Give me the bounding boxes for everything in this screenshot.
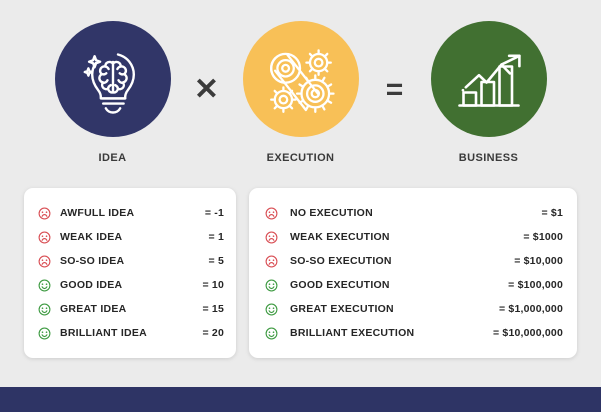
list-item-value: = $100,000 <box>471 279 563 291</box>
sad-face-icon <box>38 255 51 268</box>
list-item: SO-SO IDEA = 5 <box>24 249 236 273</box>
list-item: GOOD EXECUTION = $100,000 <box>249 273 577 297</box>
equals-glyph: = <box>386 75 404 105</box>
happy-face-icon <box>265 327 278 340</box>
list-item: NO EXECUTION = $1 <box>249 201 577 225</box>
list-item-label: GREAT EXECUTION <box>290 303 471 315</box>
growth-bar-chart-icon <box>452 42 526 116</box>
multiply-operator: ✕ <box>183 0 231 158</box>
happy-face-icon <box>265 303 278 316</box>
list-item-label: GREAT IDEA <box>60 303 190 315</box>
list-item-label: AWFULL IDEA <box>60 207 190 219</box>
list-item-label: WEAK EXECUTION <box>290 231 471 243</box>
gears-belt-icon <box>263 41 339 117</box>
list-item-value: = 10 <box>190 279 224 291</box>
list-item: SO-SO EXECUTION = $10,000 <box>249 249 577 273</box>
formula-row: IDEA ✕ <box>0 0 601 178</box>
term-idea: IDEA <box>43 0 183 164</box>
term-business: BUSINESS <box>419 0 559 164</box>
list-item: WEAK EXECUTION = $1000 <box>249 225 577 249</box>
execution-circle <box>243 21 359 137</box>
list-item-label: SO-SO EXECUTION <box>290 255 471 267</box>
list-item-value: = $1 <box>471 207 563 219</box>
list-item-value: = $10,000,000 <box>471 327 563 339</box>
list-item: WEAK IDEA = 1 <box>24 225 236 249</box>
idea-scale-card: AWFULL IDEA = -1 WEAK IDEA = 1 <box>24 188 236 358</box>
list-item-label: GOOD IDEA <box>60 279 190 291</box>
list-item-label: BRILLIANT IDEA <box>60 327 190 339</box>
list-item-label: BRILLIANT EXECUTION <box>290 327 471 339</box>
list-item-value: = 20 <box>190 327 224 339</box>
execution-scale-card: NO EXECUTION = $1 WEAK EXECUTION = $1000 <box>249 188 577 358</box>
term-label-execution: EXECUTION <box>267 152 335 164</box>
list-item-value: = $1,000,000 <box>471 303 563 315</box>
list-item: GREAT EXECUTION = $1,000,000 <box>249 297 577 321</box>
lightbulb-brain-icon <box>76 42 150 116</box>
list-item: GOOD IDEA = 10 <box>24 273 236 297</box>
sad-face-icon <box>265 255 278 268</box>
list-item-value: = 1 <box>190 231 224 243</box>
happy-face-icon <box>265 279 278 292</box>
equals-operator: = <box>371 0 419 158</box>
list-item-value: = -1 <box>190 207 224 219</box>
list-item-value: = 15 <box>190 303 224 315</box>
list-item: AWFULL IDEA = -1 <box>24 201 236 225</box>
term-execution: EXECUTION <box>231 0 371 164</box>
legend-cards: AWFULL IDEA = -1 WEAK IDEA = 1 <box>24 188 577 358</box>
list-item-label: NO EXECUTION <box>290 207 471 219</box>
sad-face-icon <box>38 231 51 244</box>
term-label-idea: IDEA <box>99 152 127 164</box>
business-circle <box>431 21 547 137</box>
list-item-label: WEAK IDEA <box>60 231 190 243</box>
bottom-bar <box>0 387 601 412</box>
sad-face-icon <box>265 207 278 220</box>
list-item-label: SO-SO IDEA <box>60 255 190 267</box>
list-item: GREAT IDEA = 15 <box>24 297 236 321</box>
happy-face-icon <box>38 327 51 340</box>
list-item: BRILLIANT EXECUTION = $10,000,000 <box>249 321 577 345</box>
multiply-glyph: ✕ <box>194 75 219 105</box>
list-item-label: GOOD EXECUTION <box>290 279 471 291</box>
list-item-value: = 5 <box>190 255 224 267</box>
list-item: BRILLIANT IDEA = 20 <box>24 321 236 345</box>
sad-face-icon <box>38 207 51 220</box>
happy-face-icon <box>38 303 51 316</box>
list-item-value: = $10,000 <box>471 255 563 267</box>
idea-circle <box>55 21 171 137</box>
happy-face-icon <box>38 279 51 292</box>
list-item-value: = $1000 <box>471 231 563 243</box>
sad-face-icon <box>265 231 278 244</box>
term-label-business: BUSINESS <box>459 152 518 164</box>
